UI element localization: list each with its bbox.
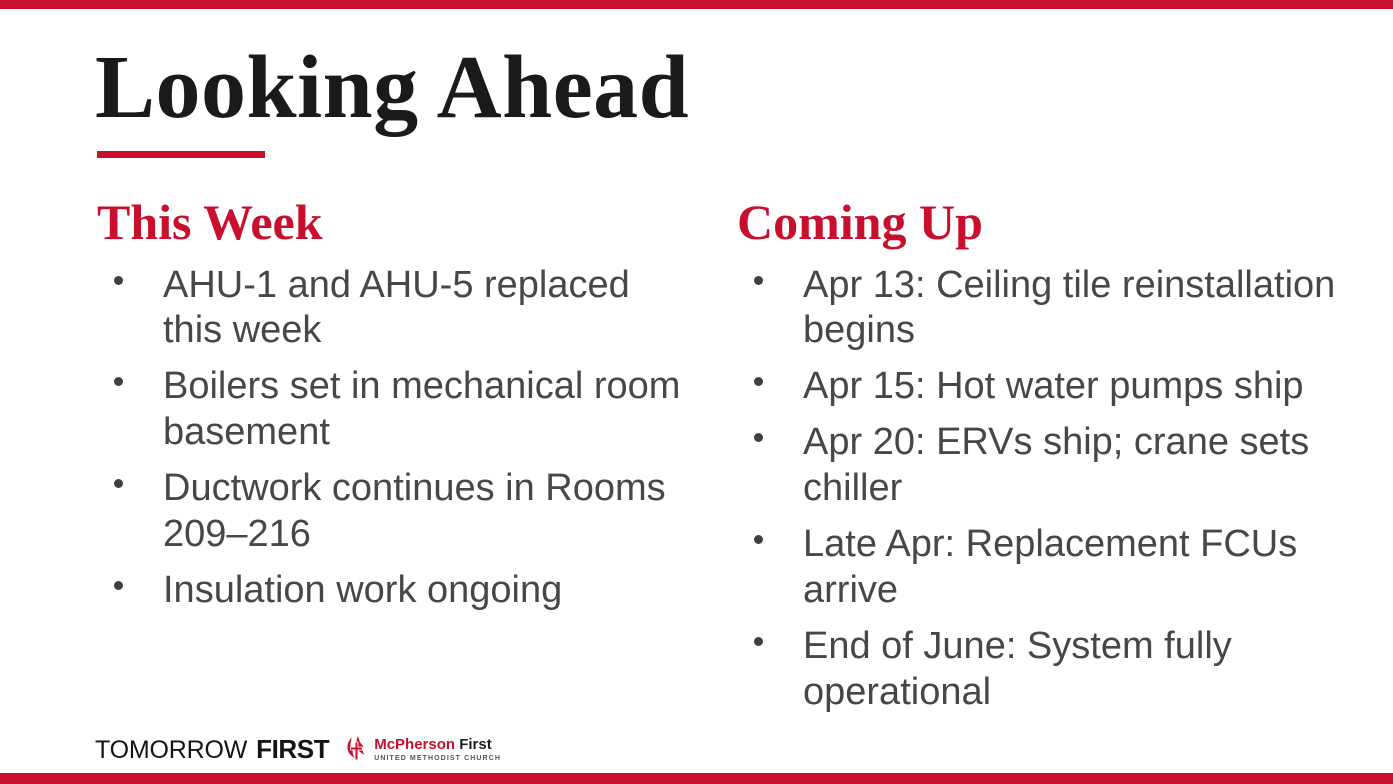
list-item-text: Apr 13: Ceiling tile reinstallation begi… (803, 264, 1335, 352)
umc-logo-name: McPherson First (374, 737, 501, 752)
bullet-list-left: AHU-1 and AHU-5 replaced this week Boile… (95, 263, 695, 615)
bullet-dot-icon (754, 535, 763, 544)
cross-and-flame-icon (345, 735, 369, 763)
bullet-dot-icon (114, 479, 123, 488)
list-item-text: Ductwork continues in Rooms 209–216 (163, 467, 666, 555)
list-item: Apr 13: Ceiling tile reinstallation begi… (735, 263, 1345, 355)
list-item-text: Apr 20: ERVs ship; crane sets chiller (803, 421, 1309, 509)
wordmark-tomorrow: TOMORROW (95, 736, 247, 765)
bullet-dot-icon (754, 637, 763, 646)
bottom-accent-bar (0, 773, 1393, 784)
top-accent-bar (0, 0, 1393, 9)
mcpherson-first-umc-logo: McPherson First UNITED METHODIST CHURCH (345, 735, 501, 763)
page-title: Looking Ahead (95, 42, 689, 134)
list-item-text: AHU-1 and AHU-5 replaced this week (163, 264, 630, 352)
column-coming-up: Coming Up Apr 13: Ceiling tile reinstall… (735, 196, 1345, 716)
list-item-text: Apr 15: Hot water pumps ship (803, 365, 1304, 407)
list-item: Apr 20: ERVs ship; crane sets chiller (735, 420, 1345, 512)
list-item: Insulation work ongoing (95, 568, 695, 614)
title-underline-accent (97, 151, 265, 158)
bullet-dot-icon (114, 581, 123, 590)
slide-footer: TOMORROW FIRST McPherson First UNITED ME… (95, 733, 501, 765)
umc-logo-name-primary: McPherson (374, 736, 455, 753)
slide-canvas: Looking Ahead This Week AHU-1 and AHU-5 … (0, 0, 1393, 784)
list-item: Ductwork continues in Rooms 209–216 (95, 466, 695, 558)
bullet-dot-icon (754, 377, 763, 386)
column-heading-right: Coming Up (737, 196, 1345, 249)
column-heading-left: This Week (97, 196, 695, 249)
tomorrow-first-wordmark: TOMORROW FIRST (95, 734, 329, 765)
wordmark-first: FIRST (256, 734, 329, 765)
list-item-text: End of June: System fully operational (803, 625, 1232, 713)
list-item: Boilers set in mechanical room basement (95, 364, 695, 456)
bullet-list-right: Apr 13: Ceiling tile reinstallation begi… (735, 263, 1345, 717)
umc-logo-text: McPherson First UNITED METHODIST CHURCH (374, 737, 501, 762)
list-item-text: Boilers set in mechanical room basement (163, 365, 680, 453)
umc-logo-subtitle: UNITED METHODIST CHURCH (374, 755, 501, 762)
umc-logo-name-secondary: First (455, 736, 492, 753)
list-item: End of June: System fully operational (735, 624, 1345, 716)
column-this-week: This Week AHU-1 and AHU-5 replaced this … (95, 196, 695, 614)
list-item: Apr 15: Hot water pumps ship (735, 364, 1345, 410)
bullet-dot-icon (754, 276, 763, 285)
bullet-dot-icon (754, 433, 763, 442)
list-item-text: Late Apr: Replacement FCUs arrive (803, 523, 1297, 611)
list-item: AHU-1 and AHU-5 replaced this week (95, 263, 695, 355)
list-item: Late Apr: Replacement FCUs arrive (735, 522, 1345, 614)
bullet-dot-icon (114, 377, 123, 386)
bullet-dot-icon (114, 276, 123, 285)
list-item-text: Insulation work ongoing (163, 569, 562, 611)
